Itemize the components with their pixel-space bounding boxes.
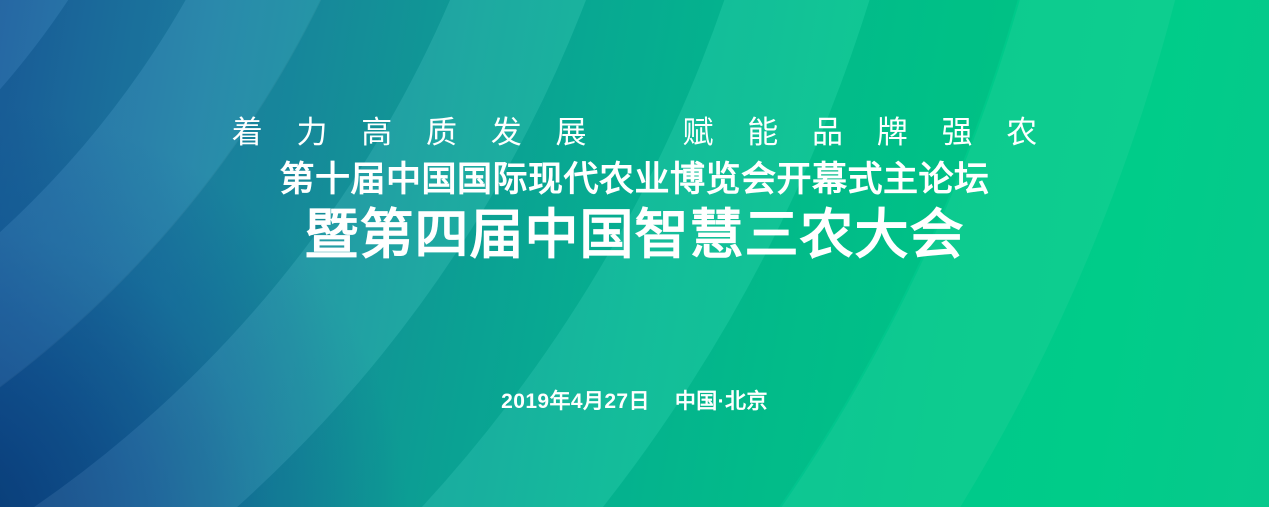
meta-block: 2019年4月27日 中国·北京: [0, 389, 1269, 415]
banner-tagline: 着 力 高 质 发 展 赋 能 品 牌 强 农: [0, 112, 1269, 154]
event-banner: 着 力 高 质 发 展 赋 能 品 牌 强 农 第十届中国国际现代农业博览会开幕…: [0, 0, 1269, 507]
banner-title-sub: 暨第四届中国智慧三农大会: [0, 204, 1269, 266]
banner-content: 着 力 高 质 发 展 赋 能 品 牌 强 农 第十届中国国际现代农业博览会开幕…: [0, 0, 1269, 507]
banner-title-main: 第十届中国国际现代农业博览会开幕式主论坛: [0, 157, 1269, 203]
banner-date-location: 2019年4月27日 中国·北京: [0, 389, 1269, 415]
headline-block: 着 力 高 质 发 展 赋 能 品 牌 强 农 第十届中国国际现代农业博览会开幕…: [0, 112, 1269, 266]
